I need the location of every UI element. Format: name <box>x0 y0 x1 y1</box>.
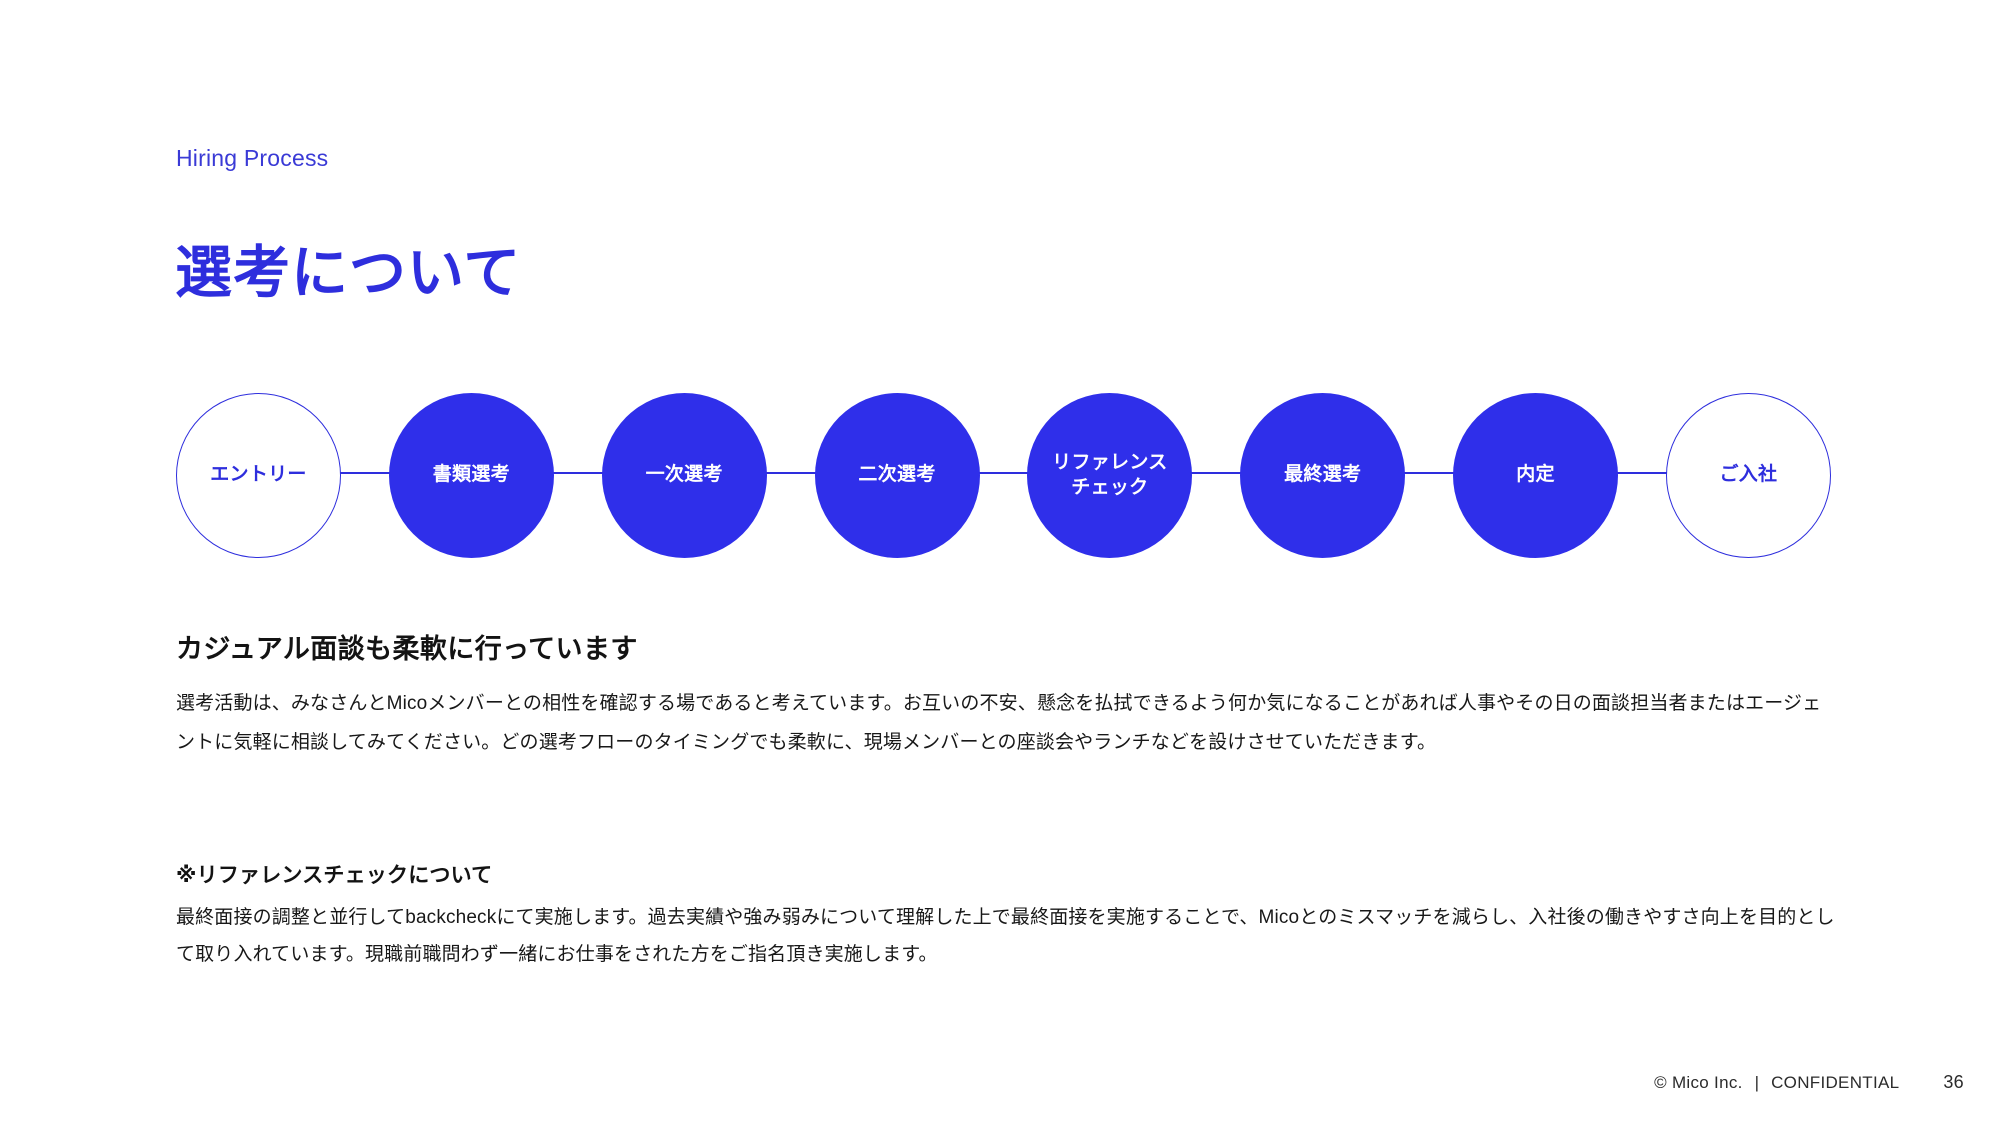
flow-step-label: 一次選考 <box>640 462 729 487</box>
flow-step-label: エントリー <box>204 462 313 487</box>
flow-step-label: 書類選考 <box>427 462 516 487</box>
flow-step-8: ご入社 <box>1666 393 1831 558</box>
footer-classification: CONFIDENTIAL <box>1771 1073 1899 1093</box>
section-body: 最終面接の調整と並行してbackcheckにて実施します。過去実績や強み弱みにつ… <box>176 899 1836 973</box>
flow-connector <box>1617 472 1667 474</box>
flow-connector <box>766 472 816 474</box>
flow-step-label: リファレンス チェック <box>1046 450 1173 501</box>
flow-step-2: 書類選考 <box>389 393 554 558</box>
flow-step-7: 内定 <box>1453 393 1618 558</box>
section-casual-interview: カジュアル面談も柔軟に行っています 選考活動は、みなさんとMicoメンバーとの相… <box>176 632 1836 763</box>
flow-step-4: 二次選考 <box>815 393 980 558</box>
section-heading: ※リファレンスチェックについて <box>176 862 1836 889</box>
flow-step-label: ご入社 <box>1713 462 1783 487</box>
footer-page-number: 36 <box>1943 1072 1964 1093</box>
flow-step-1: エントリー <box>176 393 341 558</box>
flow-connector <box>979 472 1029 474</box>
hiring-process-flow: エントリー書類選考一次選考二次選考リファレンス チェック最終選考内定ご入社 <box>0 390 2000 560</box>
footer-copyright: © Mico Inc. <box>1654 1073 1743 1093</box>
section-eyebrow: Hiring Process <box>176 147 328 170</box>
slide-footer: © Mico Inc. | CONFIDENTIAL 36 <box>0 1072 2000 1093</box>
flow-step-label: 二次選考 <box>852 462 941 487</box>
flow-connector <box>553 472 603 474</box>
page-title: 選考について <box>175 241 521 307</box>
flow-connector <box>1191 472 1241 474</box>
slide-canvas: Hiring Process 選考について エントリー書類選考一次選考二次選考リ… <box>0 0 2000 1125</box>
flow-connector <box>340 472 390 474</box>
section-body: 選考活動は、みなさんとMicoメンバーとの相性を確認する場であると考えています。… <box>176 685 1836 763</box>
flow-step-label: 内定 <box>1510 462 1561 487</box>
flow-step-6: 最終選考 <box>1240 393 1405 558</box>
flow-step-label: 最終選考 <box>1278 462 1367 487</box>
section-reference-check: ※リファレンスチェックについて 最終面接の調整と並行してbackcheckにて実… <box>176 862 1836 973</box>
flow-track: エントリー書類選考一次選考二次選考リファレンス チェック最終選考内定ご入社 <box>176 390 1831 560</box>
flow-step-5: リファレンス チェック <box>1027 393 1192 558</box>
flow-step-3: 一次選考 <box>602 393 767 558</box>
section-heading: カジュアル面談も柔軟に行っています <box>176 632 1836 667</box>
footer-separator: | <box>1743 1073 1771 1093</box>
flow-connector <box>1404 472 1454 474</box>
